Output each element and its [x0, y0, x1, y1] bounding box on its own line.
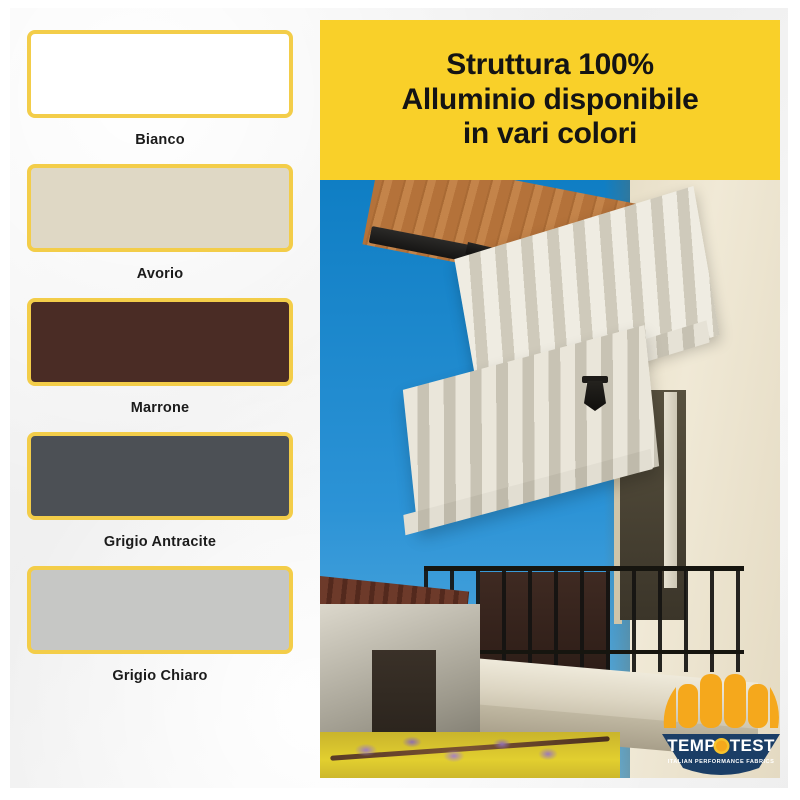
curtain [664, 392, 677, 588]
swatch-item-avorio[interactable]: Avorio [27, 164, 293, 282]
tempotest-logo[interactable]: TEMPOTEST ITALIAN PERFORMANCE FABRICS [658, 656, 784, 782]
swatch-item-grigio-antracite[interactable]: Grigio Antracite [27, 432, 293, 550]
swatch-item-bianco[interactable]: Bianco [27, 30, 293, 148]
color-swatch-list: Bianco Avorio Marrone Grigio Antracite G… [0, 0, 320, 800]
railing-top-rail [424, 566, 744, 571]
headline-banner: Struttura 100% Alluminio disponibile in … [320, 20, 780, 180]
color-label-avorio: Avorio [27, 266, 293, 282]
swatch-item-marrone[interactable]: Marrone [27, 298, 293, 416]
color-label-grigio-antracite: Grigio Antracite [27, 534, 293, 550]
color-label-marrone: Marrone [27, 400, 293, 416]
canvas-edge-top [0, 0, 800, 8]
canvas-edge-right [788, 0, 800, 800]
color-chip-bianco[interactable] [27, 30, 293, 118]
logo-tagline: ITALIAN PERFORMANCE FABRICS [668, 759, 775, 765]
swatch-item-grigio-chiaro[interactable]: Grigio Chiaro [27, 566, 293, 684]
color-chip-grigio-antracite[interactable] [27, 432, 293, 520]
color-chip-avorio[interactable] [27, 164, 293, 252]
color-label-bianco: Bianco [27, 132, 293, 148]
canvas-edge-left [0, 0, 10, 800]
canvas-edge-bottom [0, 788, 800, 800]
color-chip-marrone[interactable] [27, 298, 293, 386]
wisteria-blossoms [326, 724, 616, 778]
product-color-poster: Bianco Avorio Marrone Grigio Antracite G… [0, 0, 800, 800]
headline-text: Struttura 100% Alluminio disponibile in … [401, 48, 698, 152]
color-chip-grigio-chiaro[interactable] [27, 566, 293, 654]
color-label-grigio-chiaro: Grigio Chiaro [27, 668, 293, 684]
